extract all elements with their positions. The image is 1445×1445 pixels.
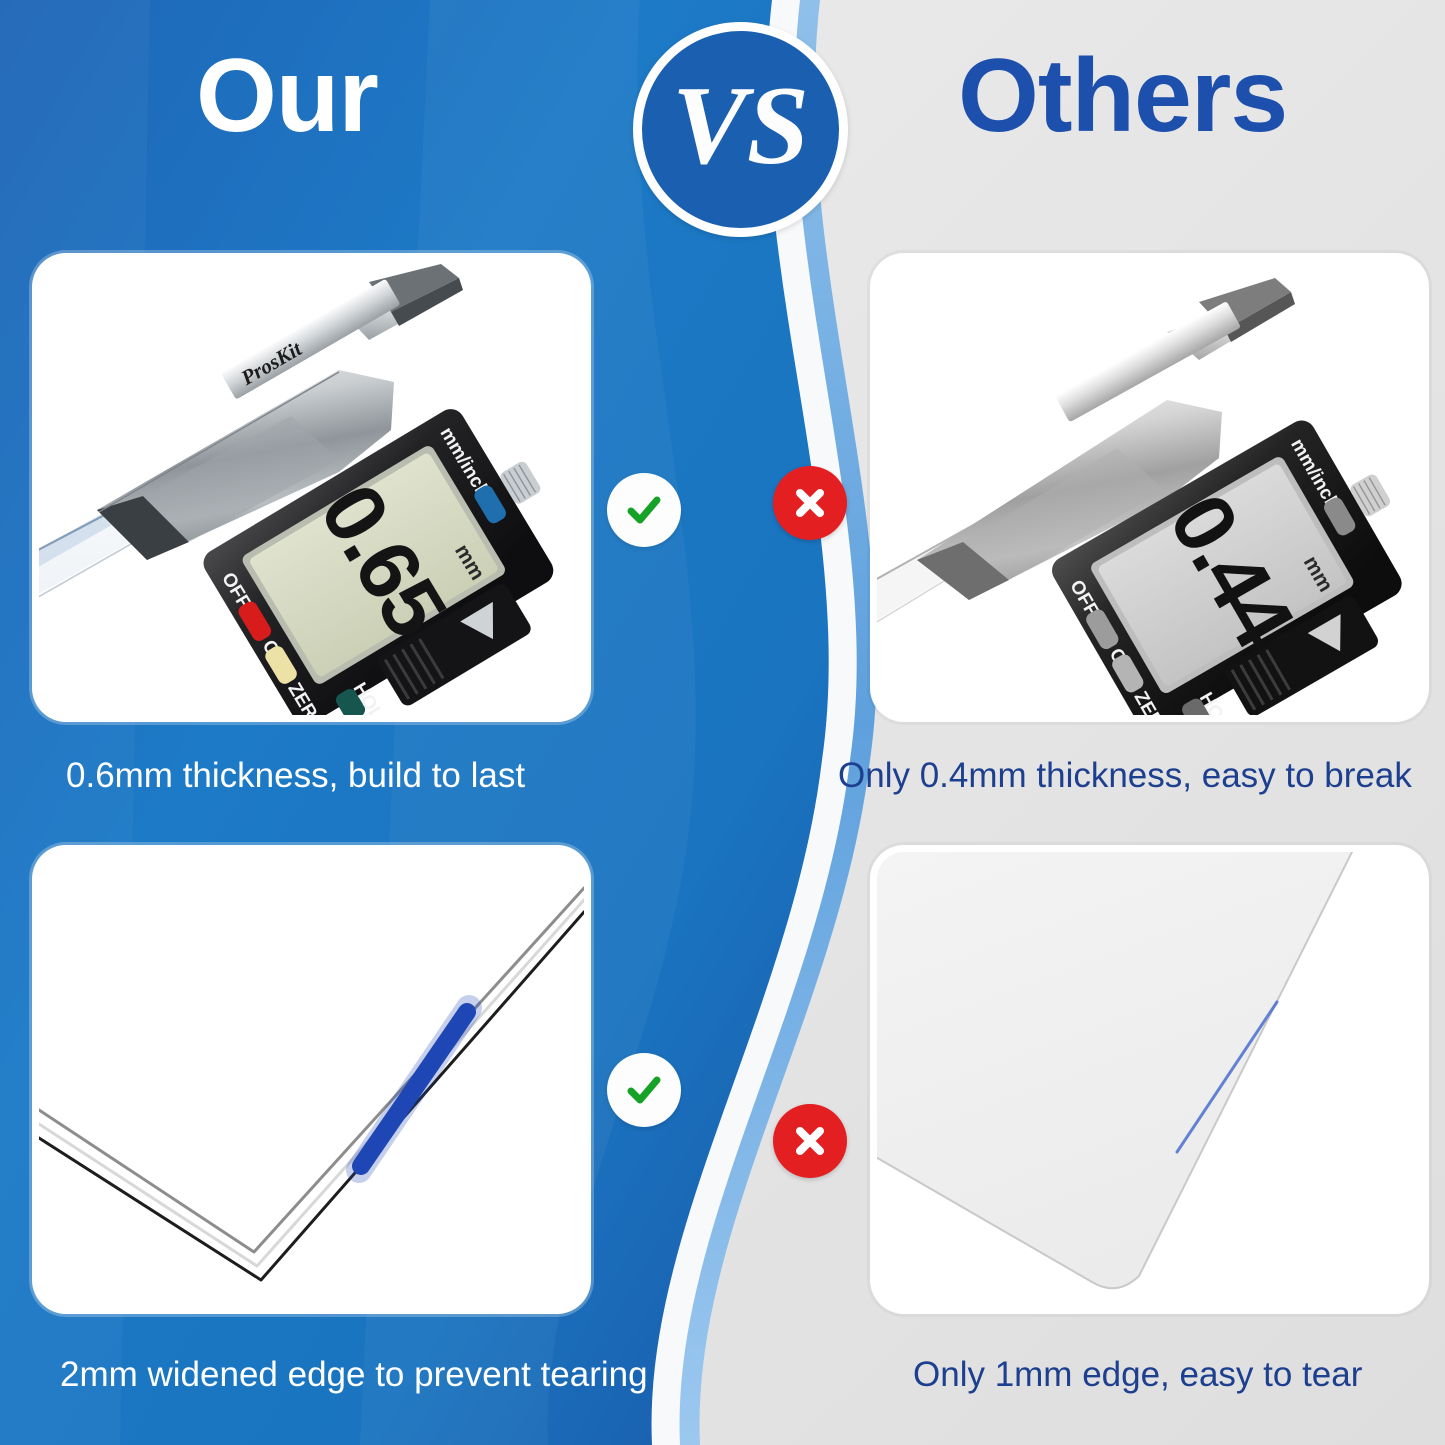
page-title-others: Others <box>958 44 1287 148</box>
vs-label: VS <box>672 70 809 182</box>
cross-icon <box>790 1121 830 1161</box>
card-others-thickness: 0.44 mm OFF ON ZERO <box>870 253 1429 722</box>
cross-badge-thickness <box>773 466 847 540</box>
glass-corner-thin-edge-illustration <box>877 852 1422 1307</box>
caption-others-thickness: Only 0.4mm thickness, easy to break <box>838 757 1412 796</box>
cross-icon <box>790 483 830 523</box>
card-others-edge <box>870 845 1429 1314</box>
card-others-edge-image <box>877 852 1422 1307</box>
cross-badge-edge <box>773 1104 847 1178</box>
card-our-thickness-image: ProsKit 0.65 mm <box>39 260 584 715</box>
card-our-edge-image <box>39 852 584 1307</box>
check-icon <box>622 1068 666 1112</box>
caption-our-thickness: 0.6mm thickness, build to last <box>66 757 525 796</box>
caliper-color-illustration: ProsKit 0.65 mm <box>39 260 584 715</box>
card-our-edge <box>32 845 591 1314</box>
check-icon <box>622 488 666 532</box>
check-badge-thickness <box>607 473 681 547</box>
caption-our-edge: 2mm widened edge to prevent tearing <box>60 1356 648 1395</box>
caption-others-edge: Only 1mm edge, easy to tear <box>913 1356 1362 1395</box>
page-title-our: Our <box>196 44 378 148</box>
vs-badge: VS <box>633 22 848 237</box>
caliper-grayscale-illustration: 0.44 mm OFF ON ZERO <box>877 260 1422 715</box>
glass-corner-wide-edge-illustration <box>39 852 584 1307</box>
card-others-thickness-image: 0.44 mm OFF ON ZERO <box>877 260 1422 715</box>
card-our-thickness: ProsKit 0.65 mm <box>32 253 591 722</box>
check-badge-edge <box>607 1053 681 1127</box>
comparison-infographic: Our Others VS <box>0 0 1445 1445</box>
